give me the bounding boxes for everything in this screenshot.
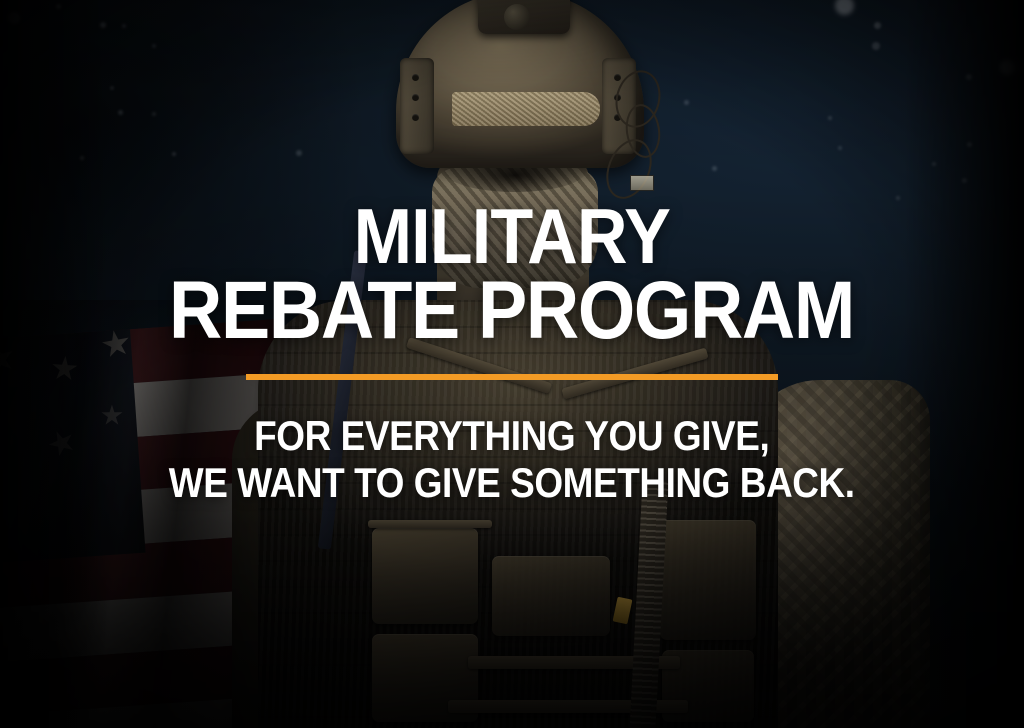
headline-line-2: REBATE PROGRAM bbox=[170, 273, 855, 349]
military-rebate-banner: MILITARY REBATE PROGRAM FOR EVERYTHING Y… bbox=[0, 0, 1024, 728]
orange-divider bbox=[246, 374, 778, 380]
subheadline-line-1: FOR EVERYTHING YOU GIVE, bbox=[254, 412, 769, 459]
banner-content: MILITARY REBATE PROGRAM FOR EVERYTHING Y… bbox=[0, 0, 1024, 728]
headline-line-1: MILITARY bbox=[354, 200, 670, 273]
subheadline-line-2: WE WANT TO GIVE SOMETHING BACK. bbox=[169, 459, 855, 506]
